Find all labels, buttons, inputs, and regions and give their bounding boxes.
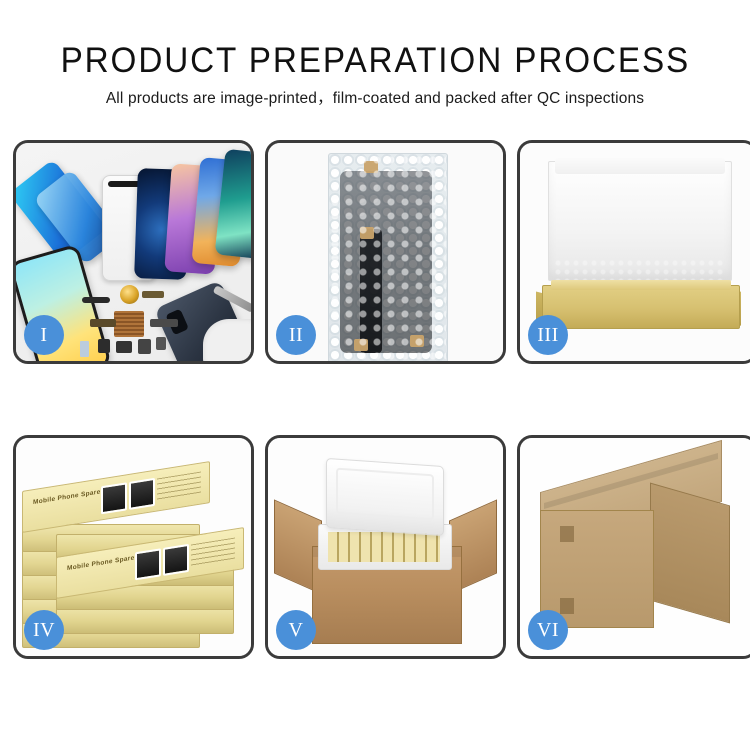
process-step-panel-3[interactable]: III — [517, 140, 750, 364]
process-step-panel-5[interactable]: V — [265, 435, 506, 659]
flex-cable-part-icon — [90, 319, 116, 327]
box-screen-photo-icon — [163, 544, 189, 576]
small-part-1-icon — [98, 339, 110, 353]
stack-layer-icon — [56, 606, 234, 634]
page-title: PRODUCT PREPARATION PROCESS — [60, 42, 690, 80]
coil-part-icon — [120, 285, 139, 304]
box-screen-photo-icon — [129, 478, 155, 510]
labelled-box-top-icon: Mobile Phone Spare Parts — [22, 461, 210, 533]
carton-tape-2-icon — [560, 598, 574, 614]
carton-tape-1-icon — [560, 526, 574, 542]
process-step-panel-1[interactable]: I — [13, 140, 254, 364]
small-part-3-icon — [138, 339, 151, 354]
carton-side-face-icon — [650, 483, 730, 624]
step-badge-6: VI — [528, 610, 568, 650]
box-screen-photo-icon — [135, 548, 161, 580]
box-screen-photo-icon — [101, 482, 127, 514]
small-part-5-icon — [80, 341, 89, 357]
speaker-bar-part-icon — [82, 297, 110, 303]
process-step-grid: I II III — [13, 140, 739, 682]
yellow-boxes-inside-icon — [328, 532, 440, 562]
step-badge-3: III — [528, 315, 568, 355]
small-part-4-icon — [156, 337, 166, 350]
chip-grid-part-icon — [114, 311, 144, 337]
process-step-panel-4[interactable]: Mobile Phone Spare Parts Mobile Phone Sp… — [13, 435, 254, 659]
flex-cable-3-part-icon — [142, 291, 164, 298]
process-step-panel-6[interactable]: VI — [517, 435, 750, 659]
box-spec-lines-icon — [191, 538, 235, 569]
yellow-box-tray-icon — [542, 285, 740, 329]
page-header: PRODUCT PREPARATION PROCESS All products… — [0, 0, 750, 128]
page-subtitle: All products are image-printed，film-coat… — [106, 90, 644, 108]
small-part-2-icon — [116, 341, 132, 353]
process-step-panel-2[interactable]: II — [265, 140, 506, 364]
flex-cable-2-part-icon — [150, 319, 178, 327]
bubble-wrap-overlay-icon — [328, 153, 446, 361]
step-badge-5: V — [276, 610, 316, 650]
step-badge-4: IV — [24, 610, 64, 650]
carton-front-face-icon — [540, 510, 654, 628]
hand-icon — [203, 319, 251, 361]
step-badge-1: I — [24, 315, 64, 355]
foam-lid-open-icon — [326, 458, 444, 536]
step-badge-2: II — [276, 315, 316, 355]
box-spec-lines-icon — [157, 472, 201, 503]
